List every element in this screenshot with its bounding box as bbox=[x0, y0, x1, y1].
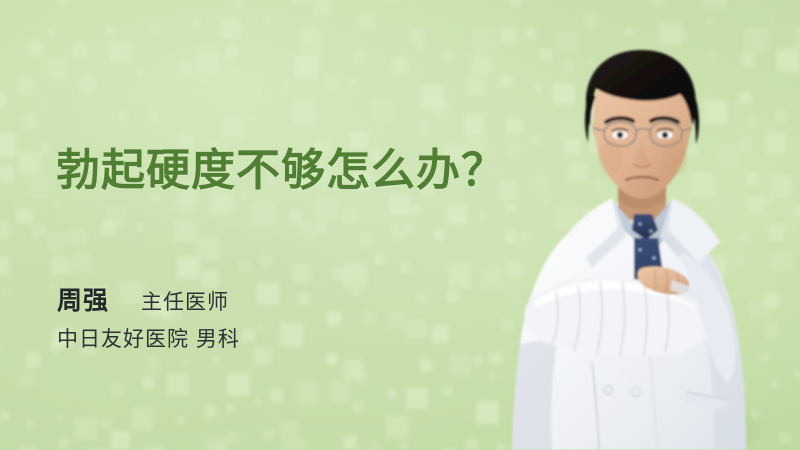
video-cover-slide: 勃起硬度不够怎么办？ 周强 主任医师 中日友好医院 男科 bbox=[0, 0, 800, 450]
doctor-name: 周强 bbox=[57, 286, 109, 316]
doctor-professional-title: 主任医师 bbox=[141, 288, 229, 318]
doctor-identity-row: 周强 主任医师 bbox=[57, 286, 229, 318]
page-title: 勃起硬度不够怎么办？ bbox=[56, 143, 506, 199]
doctor-affiliation: 中日友好医院 男科 bbox=[57, 325, 240, 355]
text-layer: 勃起硬度不够怎么办？ 周强 主任医师 中日友好医院 男科 bbox=[0, 0, 560, 450]
